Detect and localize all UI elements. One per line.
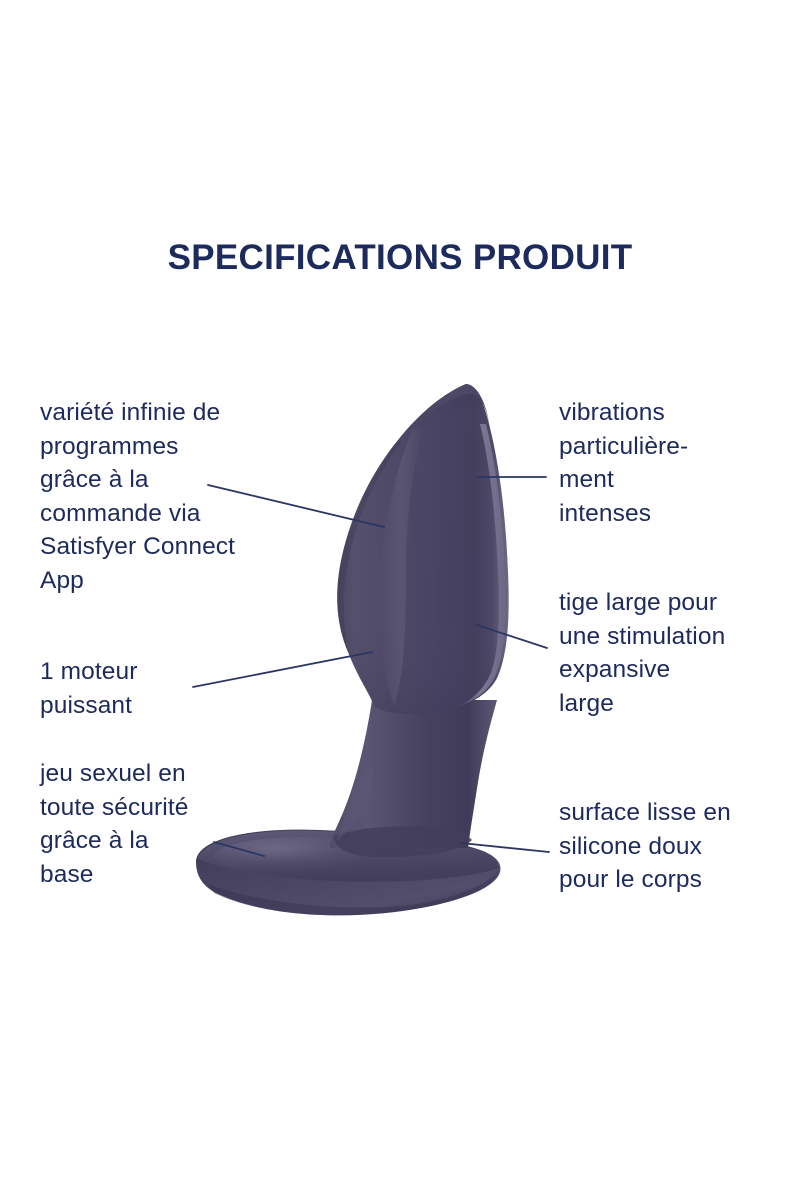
neck-body bbox=[330, 700, 497, 848]
callout-label-wide-shaft: tige large pour une stimulation expansiv… bbox=[559, 586, 797, 720]
callout-label-programmes: variété infinie de programmes grâce à la… bbox=[40, 396, 302, 597]
product-neck bbox=[330, 700, 497, 857]
product-bulb bbox=[337, 384, 508, 714]
callout-label-motor: 1 moteur puissant bbox=[40, 655, 270, 722]
callout-label-vibrations: vibrations particulière- ment intenses bbox=[559, 396, 791, 530]
product-specifications-infographic: SPECIFICATIONS PRODUIT bbox=[0, 0, 800, 1200]
callout-label-safe-base: jeu sexuel en toute sécurité grâce à la … bbox=[40, 757, 272, 891]
callout-label-silicone: surface lisse en silicone doux pour le c… bbox=[559, 796, 797, 897]
